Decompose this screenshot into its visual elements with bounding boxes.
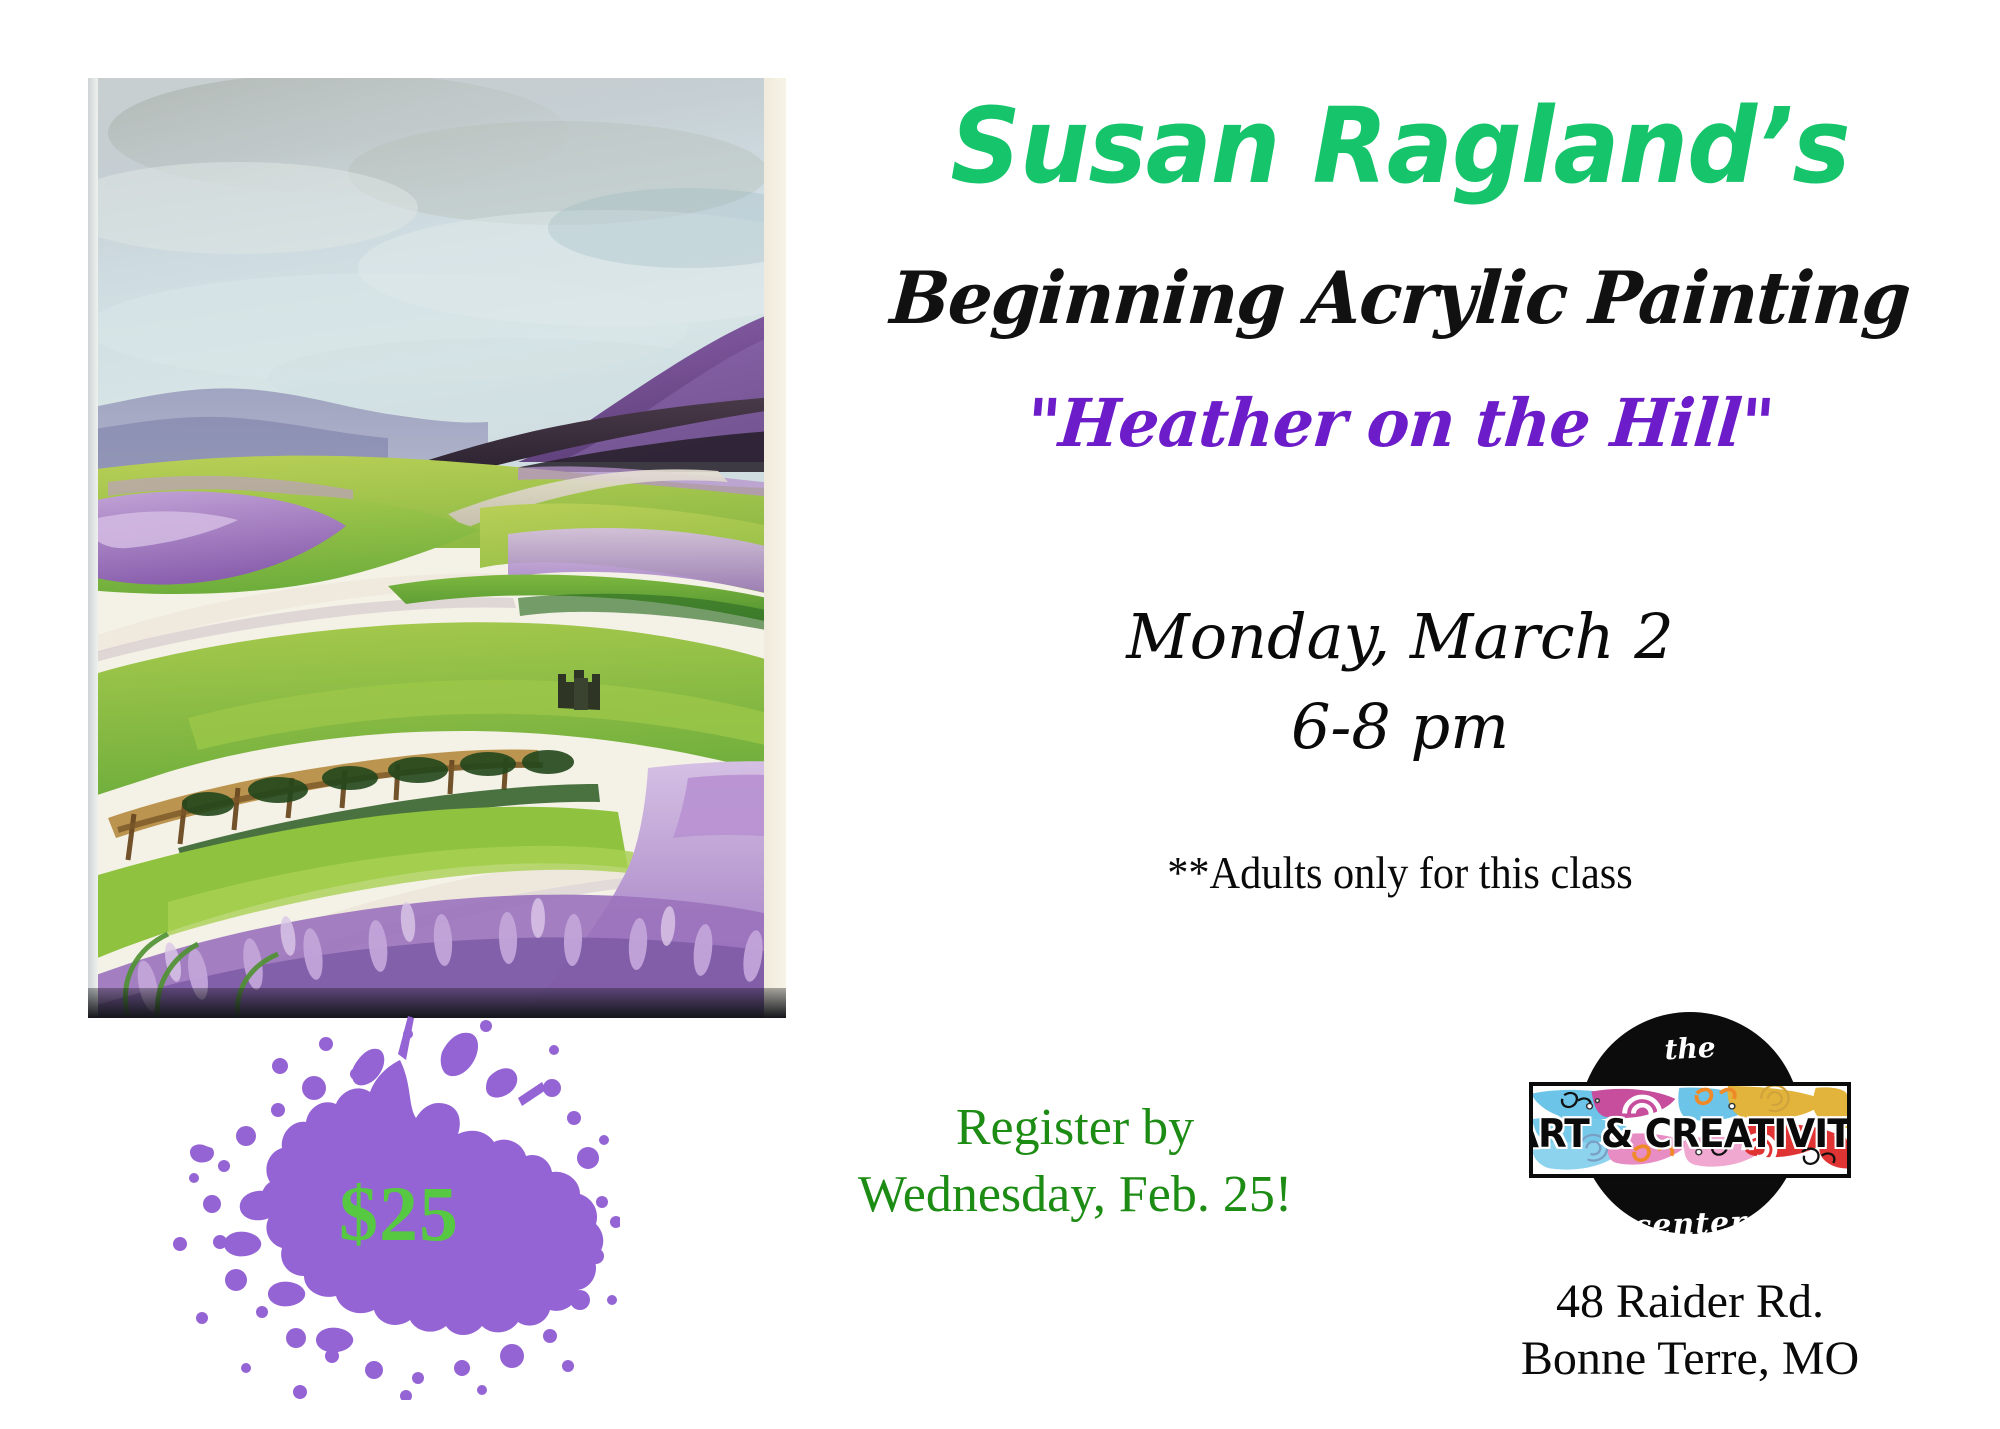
heather-on-the-hill-painting <box>88 78 786 1018</box>
class-time: 6-8 pm <box>840 690 1960 763</box>
class-date: Monday, March 2 <box>840 600 1960 673</box>
canvas-edge-right <box>764 78 786 1018</box>
class-subtitle: Beginning Acrylic Painting <box>854 262 1945 334</box>
venue-logo-block: the center <box>1440 1010 1940 1410</box>
art-and-creativity-center-logo: the center <box>1525 1010 1855 1260</box>
logo-name-text: ART & CREATIVITY <box>1539 1086 1848 1178</box>
age-restriction-note: **Adults only for this class <box>885 845 1915 900</box>
register-line-2: Wednesday, Feb. 25! <box>810 1162 1340 1229</box>
address-line-1: 48 Raider Rd. <box>1440 1274 1940 1331</box>
register-line-1: Register by <box>810 1095 1340 1162</box>
logo-banner: ART & CREATIVITY <box>1529 1082 1851 1178</box>
canvas-edge-left <box>88 78 98 1018</box>
registration-deadline: Register by Wednesday, Feb. 25! <box>810 1095 1340 1228</box>
painting-illustration <box>88 78 786 1018</box>
artwork-photo <box>88 78 786 1018</box>
flyer-canvas: $25 Susan Ragland’s Beginning Acrylic Pa… <box>0 0 2000 1429</box>
painting-title: "Heather on the Hill" <box>854 390 1946 456</box>
venue-address: 48 Raider Rd. Bonne Terre, MO <box>1440 1274 1940 1387</box>
price-splatter: $25 <box>150 1000 620 1400</box>
logo-center-text: center <box>1579 1203 1800 1246</box>
address-line-2: Bonne Terre, MO <box>1440 1331 1940 1388</box>
headline-instructor: Susan Ragland’s <box>874 92 1927 201</box>
paint-splatter-icon <box>150 1000 620 1400</box>
